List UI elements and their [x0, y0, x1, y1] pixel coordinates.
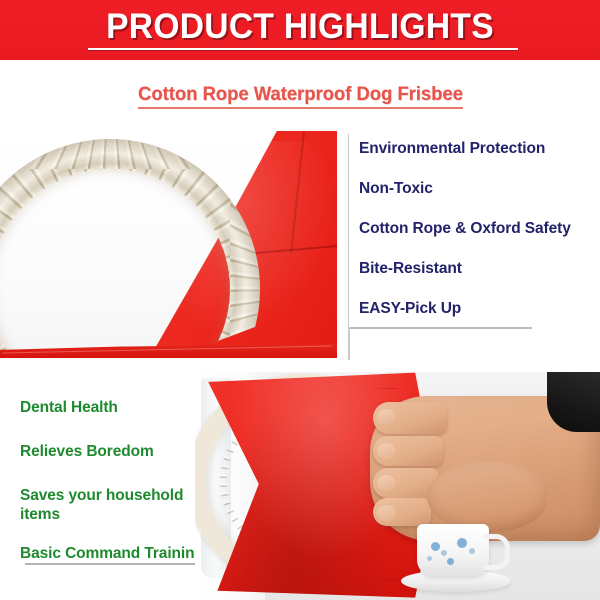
fingernail: [377, 475, 396, 491]
feature-item-environmental-protection: Environmental Protection: [359, 140, 545, 158]
feature-list-divider: [348, 327, 532, 329]
finger-pinky: [373, 498, 431, 526]
feature-list: Environmental Protection Non-Toxic Cotto…: [348, 134, 597, 330]
page-title: PRODUCT HIGHLIGHTS: [12, 7, 588, 47]
fingers-group: [373, 400, 445, 535]
thumb: [427, 462, 547, 532]
floral-pattern-leaf: [441, 550, 447, 556]
floral-pattern-leaf: [469, 548, 475, 554]
finger-index: [373, 402, 447, 434]
product-photo-hand-holding-frisbee: [195, 372, 600, 600]
feature-item-non-toxic: Non-Toxic: [359, 180, 433, 198]
finger-middle: [373, 436, 443, 466]
header-banner: PRODUCT HIGHLIGHTS: [0, 0, 600, 60]
benefit-list-divider: [25, 563, 197, 565]
fingernail: [377, 443, 396, 459]
dark-sleeve: [547, 372, 600, 432]
subtitle-container: Cotton Rope Waterproof Dog Frisbee: [0, 84, 600, 109]
floral-pattern-petal: [447, 558, 454, 565]
feature-item-bite-resistant: Bite-Resistant: [359, 260, 462, 278]
benefit-item-dental-health: Dental Health: [20, 398, 118, 417]
product-photo-rope-closeup: [0, 131, 337, 358]
floral-pattern-leaf: [427, 556, 432, 561]
product-highlights-page: PRODUCT HIGHLIGHTS Cotton Rope Waterproo…: [0, 0, 600, 600]
title-underline: [88, 48, 518, 50]
floral-pattern-petal: [457, 538, 467, 548]
product-subtitle: Cotton Rope Waterproof Dog Frisbee: [138, 84, 463, 109]
teacup: [417, 524, 489, 576]
fingernail: [377, 505, 396, 521]
fingernail: [377, 409, 396, 425]
floral-pattern-petal: [431, 542, 440, 551]
feature-item-easy-pick-up: EASY-Pick Up: [359, 300, 461, 318]
benefit-item-basic-command-training: Basic Command Training: [20, 544, 204, 563]
benefit-item-saves-household-items: Saves your household items: [20, 486, 195, 524]
benefit-item-relieves-boredom: Relieves Boredom: [20, 442, 154, 461]
teacup-handle: [483, 534, 510, 570]
feature-item-cotton-rope-oxford-safety: Cotton Rope & Oxford Safety: [359, 220, 571, 238]
feature-list-vertical-tail: [348, 327, 350, 360]
